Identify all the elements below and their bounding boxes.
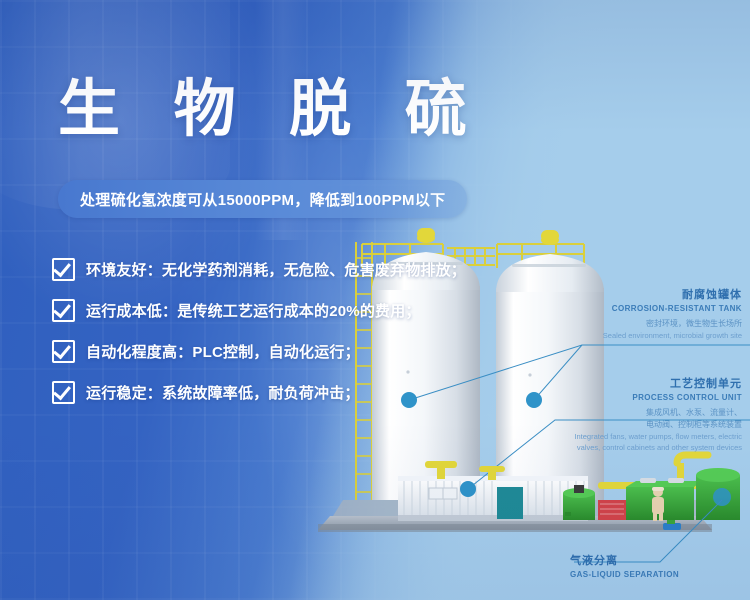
list-item-low-cost: 运行成本低：是传统工艺运行成本的20%的费用； [52, 299, 466, 322]
feature-list: 环境友好：无化学药剂消耗，无危险、危害废弃物排放； 运行成本低：是传统工艺运行成… [52, 258, 466, 404]
page-title: 生 物 脱 硫 [58, 78, 483, 140]
marker-dot-gas-separation [713, 488, 731, 506]
checkbox-checked-icon [52, 258, 75, 281]
subtitle-text: 处理硫化氢浓度可从15000PPM，降低到100PPM以下 [80, 189, 445, 210]
annotation-title-en: CORROSION-RESISTANT TANK [603, 304, 742, 313]
red-access-stairs [598, 500, 626, 520]
annotation-desc-cn-line1: 集成风机、水泵、流量计、 [574, 407, 742, 419]
annotation-gas-liquid-separation: 气液分离 GAS-LIQUID SEPARATION [570, 552, 679, 579]
annotation-title-en: PROCESS CONTROL UNIT [574, 393, 742, 402]
annotation-desc-en: Sealed environment, microbial growth sit… [603, 330, 742, 341]
annotation-desc-cn-line2: 电动阀、控制柜等系统装置 [574, 419, 742, 431]
checkbox-checked-icon [52, 299, 75, 322]
annotation-title-cn: 耐腐蚀罐体 [603, 286, 742, 302]
subtitle-badge: 处理硫化氢浓度可从15000PPM，降低到100PPM以下 [58, 180, 467, 218]
list-item-eco-friendly: 环境友好：无化学药剂消耗，无危险、危害废弃物排放； [52, 258, 466, 281]
annotation-desc-en-line2: valves, control cabinets and other syste… [574, 442, 742, 453]
tank-secondary [496, 230, 604, 500]
small-green-tank [563, 485, 595, 520]
checkbox-checked-icon [52, 381, 75, 404]
marker-dot-tank-2[interactable] [526, 392, 542, 408]
annotation-title-cn: 气液分离 [570, 552, 679, 568]
list-item-label: 自动化程度高：PLC控制，自动化运行； [86, 341, 360, 362]
annotation-corrosion-resistant-tank: 耐腐蚀罐体 CORROSION-RESISTANT TANK 密封环境，微生物生… [603, 286, 742, 341]
list-item-label: 环境友好：无化学药剂消耗，无危险、危害废弃物排放； [86, 259, 466, 280]
annotation-desc-en-line1: Integrated fans, water pumps, flow meter… [574, 431, 742, 442]
checkbox-checked-icon [52, 340, 75, 363]
list-item-stability: 运行稳定：系统故障率低，耐负荷冲击； [52, 381, 466, 404]
annotation-process-control-unit: 工艺控制单元 PROCESS CONTROL UNIT 集成风机、水泵、流量计、… [574, 375, 742, 454]
list-item-label: 运行稳定：系统故障率低，耐负荷冲击； [86, 382, 360, 403]
list-item-label: 运行成本低：是传统工艺运行成本的20%的费用； [86, 300, 421, 321]
biological-desulfurization-poster: 生 物 脱 硫 处理硫化氢浓度可从15000PPM，降低到100PPM以下 环境… [0, 0, 750, 600]
annotation-desc-cn: 密封环境，微生物生长场所 [603, 318, 742, 330]
annotation-title-en: GAS-LIQUID SEPARATION [570, 570, 679, 579]
list-item-automation: 自动化程度高：PLC控制，自动化运行； [52, 340, 466, 363]
marker-dot-control-unit[interactable] [460, 481, 476, 497]
annotation-title-cn: 工艺控制单元 [574, 375, 742, 391]
control-container-building [398, 476, 588, 521]
